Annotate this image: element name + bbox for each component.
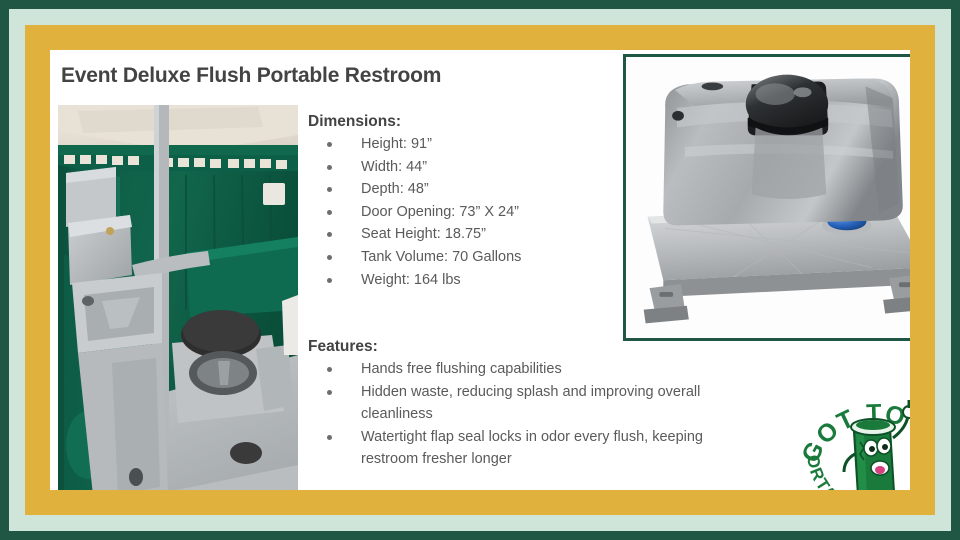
list-item: Door Opening: 73” X 24” (308, 201, 608, 224)
page-title: Event Deluxe Flush Portable Restroom (61, 64, 441, 88)
slide-border-outer: Event Deluxe Flush Portable Restroom (0, 0, 960, 540)
list-item-label: Seat Height: 18.75” (361, 226, 486, 242)
list-item-label: Depth: 48” (361, 181, 429, 197)
slide-border-mint: Event Deluxe Flush Portable Restroom (9, 9, 951, 531)
list-item: Tank Volume: 70 Gallons (308, 246, 608, 269)
company-logo: GOT TO GO PORTABLE RESTROOMS (798, 380, 910, 490)
dimensions-heading: Dimensions: (308, 113, 608, 131)
bullet-icon (327, 187, 332, 192)
list-item: Width: 44” (308, 156, 608, 179)
list-item-label: Weight: 164 lbs (361, 272, 461, 288)
list-item-label: Hidden waste, reducing splash and improv… (361, 384, 700, 423)
list-item-label: Height: 91” (361, 136, 432, 152)
list-item: Seat Height: 18.75” (308, 223, 608, 246)
bullet-icon (327, 142, 332, 147)
list-item-label: Watertight flap seal locks in odor every… (361, 429, 703, 468)
list-item: Hidden waste, reducing splash and improv… (308, 381, 738, 426)
list-item: Depth: 48” (308, 178, 608, 201)
list-item: Hands free flushing capabilities (308, 358, 738, 381)
list-item-label: Tank Volume: 70 Gallons (361, 249, 521, 265)
bullet-icon (327, 210, 332, 215)
bullet-icon (327, 435, 332, 440)
portable-restroom-interior-photo (58, 105, 298, 490)
dimensions-block: Dimensions: Height: 91” Width: 44” Depth… (308, 113, 608, 291)
list-item-label: Hands free flushing capabilities (361, 361, 562, 377)
features-list: Hands free flushing capabilities Hidden … (308, 358, 738, 471)
bullet-icon (327, 165, 332, 170)
bullet-icon (327, 278, 332, 283)
list-item: Height: 91” (308, 133, 608, 156)
dimensions-list: Height: 91” Width: 44” Depth: 48” Door O… (308, 133, 608, 291)
slide-border-gold: Event Deluxe Flush Portable Restroom (25, 25, 935, 515)
flush-tank-assembly-photo (623, 54, 910, 341)
bullet-icon (327, 232, 332, 237)
list-item: Watertight flap seal locks in odor every… (308, 426, 738, 471)
list-item-label: Width: 44” (361, 159, 427, 175)
slide-content: Event Deluxe Flush Portable Restroom (50, 50, 910, 490)
bullet-icon (327, 367, 332, 372)
features-block: Features: Hands free flushing capabiliti… (308, 338, 738, 471)
list-item: Weight: 164 lbs (308, 269, 608, 292)
bullet-icon (327, 255, 332, 260)
list-item-label: Door Opening: 73” X 24” (361, 204, 519, 220)
bullet-icon (327, 390, 332, 395)
